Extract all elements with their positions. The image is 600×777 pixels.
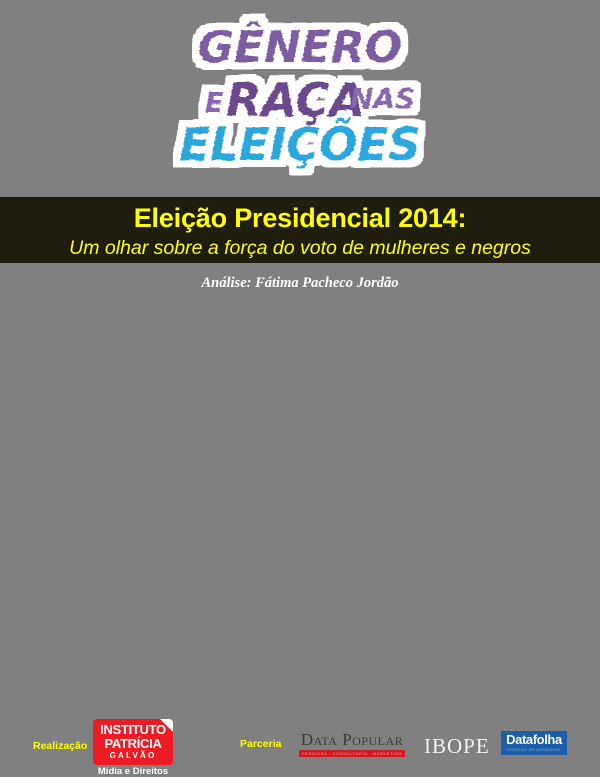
logo-line-generо: GÊNERO xyxy=(198,20,402,73)
genero-e-raca-nas-eleicoes-logo: GÊNERO E RAÇA NAS ELEIÇÕES xyxy=(170,8,430,178)
logo-block: GÊNERO E RAÇA NAS ELEIÇÕES xyxy=(0,8,600,183)
logo-line-e: E xyxy=(205,88,224,119)
datafolha-wordmark: Datafolha xyxy=(501,732,567,747)
ipg-line-patricia: PATRÍCIA xyxy=(93,736,173,751)
ibope-logo: IBOPE xyxy=(424,734,490,759)
parceria-label: Parceria xyxy=(240,738,281,750)
realizacao-label: Realização xyxy=(33,740,87,752)
data-popular-bar-text: PESQUISA · CONSULTORIA · MARKETING xyxy=(299,750,405,757)
page-title: Eleição Presidencial 2014: xyxy=(0,201,600,235)
datafolha-subtitle: instituto de pesquisas xyxy=(501,747,567,752)
data-popular-red-bar: PESQUISA · CONSULTORIA · MARKETING xyxy=(299,750,405,757)
data-popular-logo: Data Popular PESQUISA · CONSULTORIA · MA… xyxy=(298,730,406,756)
ipg-red-box: INSTITUTO PATRÍCIA GALVÃO xyxy=(93,719,173,765)
ipg-tagline: Mídia e Direitos xyxy=(78,766,188,777)
datafolha-logo: Datafolha instituto de pesquisas xyxy=(501,731,567,755)
page-subtitle: Um olhar sobre a força do voto de mulher… xyxy=(0,235,600,261)
author-credit: Análise: Fátima Pacheco Jordão xyxy=(0,275,600,292)
title-band: Eleição Presidencial 2014: Um olhar sobr… xyxy=(0,197,600,263)
logo-line-nas: NAS xyxy=(350,82,415,115)
instituto-patricia-galvao-logo: INSTITUTO PATRÍCIA GALVÃO xyxy=(93,719,173,765)
data-popular-wordmark: Data Popular xyxy=(298,730,406,750)
logo-line-eleicoes: ELEIÇÕES xyxy=(179,118,420,171)
ipg-line-galvao: GALVÃO xyxy=(93,751,173,760)
footer-credits: Realização INSTITUTO PATRÍCIA GALVÃO Míd… xyxy=(0,355,600,435)
ipg-line-instituto: INSTITUTO xyxy=(93,722,173,737)
